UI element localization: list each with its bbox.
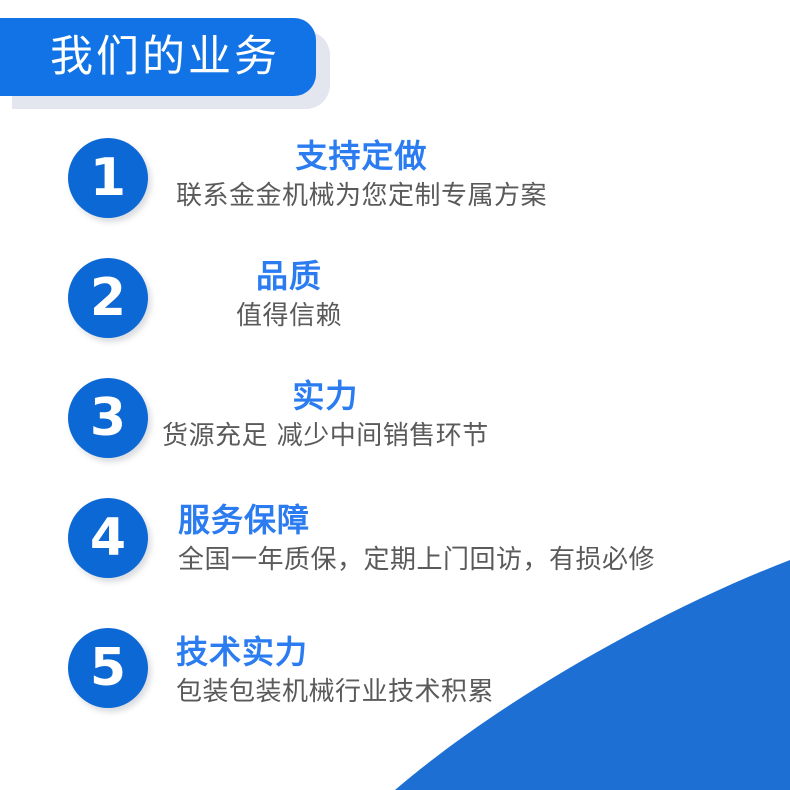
- feature-number-label: 2: [90, 272, 126, 324]
- feature-text-block-3: 实力 货源充足 减少中间销售环节: [162, 376, 489, 454]
- feature-item-4[interactable]: 4 服务保障 全国一年质保，定期上门回访，有损必修: [0, 490, 790, 620]
- feature-item-2[interactable]: 2 品质 值得信赖: [0, 250, 790, 370]
- feature-title: 品质: [236, 256, 342, 296]
- feature-title: 技术实力: [176, 632, 494, 672]
- feature-number-badge-5: 5: [68, 628, 148, 708]
- feature-list: 1 支持定做 联系金金机械为您定制专属方案 2 品质 值得信赖 3 实力 货源充…: [0, 130, 790, 750]
- feature-number-badge-4: 4: [68, 498, 148, 578]
- feature-title: 实力: [162, 376, 489, 416]
- feature-item-5[interactable]: 5 技术实力 包装包装机械行业技术积累: [0, 620, 790, 750]
- feature-title: 支持定做: [176, 136, 547, 176]
- feature-number-badge-2: 2: [68, 258, 148, 338]
- feature-text-block-1: 支持定做 联系金金机械为您定制专属方案: [176, 136, 547, 214]
- feature-title: 服务保障: [178, 500, 655, 540]
- feature-subtitle: 货源充足 减少中间销售环节: [162, 420, 489, 454]
- feature-text-block-2: 品质 值得信赖: [236, 256, 342, 334]
- feature-subtitle: 包装包装机械行业技术积累: [176, 676, 494, 710]
- feature-number-badge-1: 1: [68, 138, 148, 218]
- feature-text-block-5: 技术实力 包装包装机械行业技术积累: [176, 632, 494, 710]
- page-title: 我们的业务: [36, 36, 280, 79]
- feature-number-label: 5: [90, 642, 126, 694]
- feature-subtitle: 全国一年质保，定期上门回访，有损必修: [178, 544, 655, 578]
- feature-text-block-4: 服务保障 全国一年质保，定期上门回访，有损必修: [178, 500, 655, 578]
- feature-subtitle: 联系金金机械为您定制专属方案: [176, 180, 547, 214]
- header-banner-group: 我们的业务: [0, 18, 334, 112]
- poster-canvas: 我们的业务 1 支持定做 联系金金机械为您定制专属方案 2 品质 值得信赖: [0, 0, 790, 790]
- feature-subtitle: 值得信赖: [236, 300, 342, 334]
- feature-item-1[interactable]: 1 支持定做 联系金金机械为您定制专属方案: [0, 130, 790, 250]
- feature-number-label: 1: [90, 152, 126, 204]
- feature-number-label: 4: [90, 512, 126, 564]
- header-banner: 我们的业务: [0, 18, 316, 96]
- feature-number-badge-3: 3: [68, 378, 148, 458]
- feature-number-label: 3: [90, 392, 126, 444]
- feature-item-3[interactable]: 3 实力 货源充足 减少中间销售环节: [0, 370, 790, 490]
